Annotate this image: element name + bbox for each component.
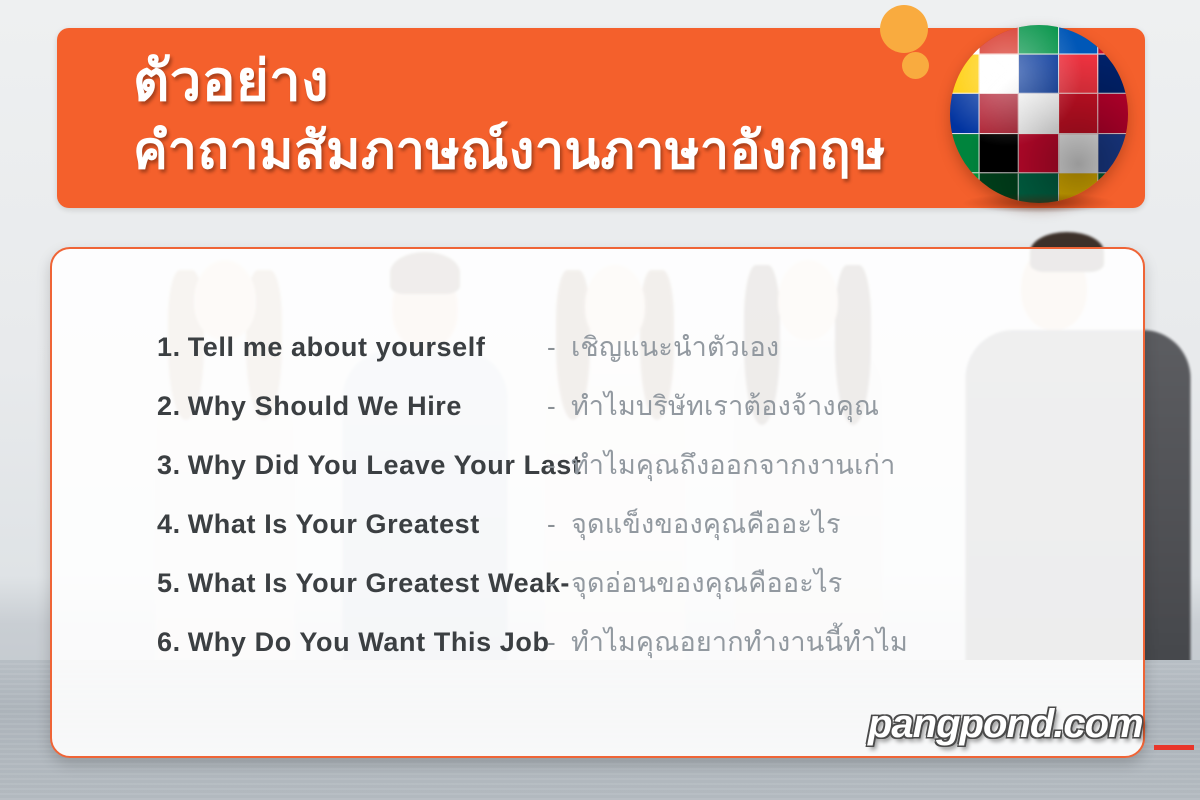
globe-flag-cell (950, 134, 979, 174)
watermark-underline (1154, 745, 1194, 750)
question-english-text: Why Should We Hire (188, 391, 462, 421)
question-dash: - (547, 332, 571, 363)
question-row: 6.Why Do You Want This Job-ทำไมคุณอยากทำ… (52, 620, 1143, 679)
question-english-text: Why Did You Leave Your Last (188, 450, 582, 480)
globe-flag-cell (1019, 54, 1059, 94)
question-thai: ทำไมคุณอยากทำงานนี้ทำไม (571, 620, 908, 663)
question-english: 4.What Is Your Greatest (52, 509, 547, 540)
question-english-text: Why Do You Want This Job (188, 627, 550, 657)
question-english-text: What Is Your Greatest (188, 509, 480, 539)
question-english: 6.Why Do You Want This Job (52, 627, 547, 658)
question-dash: - (547, 509, 571, 540)
globe-flag-cell (979, 134, 1019, 174)
question-english: 1.Tell me about yourself (52, 332, 547, 363)
question-number: 5. (157, 568, 181, 598)
globe-flag-cell (1059, 54, 1099, 94)
question-english: 2.Why Should We Hire (52, 391, 547, 422)
decor-dot-large-icon (880, 5, 928, 53)
question-thai: ทำไมบริษัทเราต้องจ้างคุณ (571, 384, 879, 427)
question-english-text: What Is Your Greatest Weak- (188, 568, 570, 598)
question-row: 3.Why Did You Leave Your Last-ทำไมคุณถึง… (52, 443, 1143, 502)
globe-flag-cell (1019, 94, 1059, 134)
question-dash: - (547, 391, 571, 422)
question-list: 1.Tell me about yourself-เชิญแนะนำตัวเอง… (52, 325, 1143, 679)
globe-flag-cell (1099, 134, 1128, 174)
globe-flag-cell (1059, 25, 1099, 54)
decor-dot-small-icon (902, 52, 929, 79)
question-dash: - (547, 568, 571, 599)
question-row: 1.Tell me about yourself-เชิญแนะนำตัวเอง (52, 325, 1143, 384)
globe-shadow (961, 193, 1118, 213)
content-card: 1.Tell me about yourself-เชิญแนะนำตัวเอง… (50, 247, 1145, 758)
globe-flag-cell (979, 25, 1019, 54)
globe-flag-cell (950, 54, 979, 94)
page-title-line1: ตัวอย่าง (133, 42, 329, 120)
globe-flag-cell (1019, 25, 1059, 54)
question-number: 1. (157, 332, 181, 362)
globe-flag-cell (1059, 134, 1099, 174)
question-row: 5.What Is Your Greatest Weak--จุดอ่อนของ… (52, 561, 1143, 620)
question-english: 3.Why Did You Leave Your Last (52, 450, 547, 481)
question-thai: จุดอ่อนของคุณคืออะไร (571, 561, 843, 604)
question-thai: ทำไมคุณถึงออกจากงานเก่า (571, 443, 895, 486)
globe-flag-cell (950, 25, 979, 54)
question-number: 3. (157, 450, 181, 480)
world-flags-globe-icon (950, 25, 1128, 203)
question-row: 2.Why Should We Hire-ทำไมบริษัทเราต้องจ้… (52, 384, 1143, 443)
globe-flag-cell (1099, 25, 1128, 54)
page-title-line2: คำถามสัมภาษณ์งานภาษาอังกฤษ (133, 112, 886, 190)
question-number: 4. (157, 509, 181, 539)
globe-flag-cell (950, 94, 979, 134)
globe-flag-cell (979, 94, 1019, 134)
question-number: 2. (157, 391, 181, 421)
question-dash: - (547, 627, 571, 658)
globe-flag-cell (1099, 54, 1128, 94)
question-row: 4.What Is Your Greatest-จุดแข็งของคุณคือ… (52, 502, 1143, 561)
question-english-text: Tell me about yourself (188, 332, 486, 362)
globe-flag-grid (950, 25, 1128, 203)
globe-flag-cell (1059, 94, 1099, 134)
question-number: 6. (157, 627, 181, 657)
question-dash: - (547, 450, 571, 481)
watermark-logo: pangpond.com (868, 702, 1143, 747)
globe-flag-cell (1099, 94, 1128, 134)
question-thai: เชิญแนะนำตัวเอง (571, 325, 779, 368)
globe-flag-cell (979, 54, 1019, 94)
question-thai: จุดแข็งของคุณคืออะไร (571, 502, 841, 545)
globe-flag-cell (1019, 134, 1059, 174)
question-english: 5.What Is Your Greatest Weak- (52, 568, 547, 599)
